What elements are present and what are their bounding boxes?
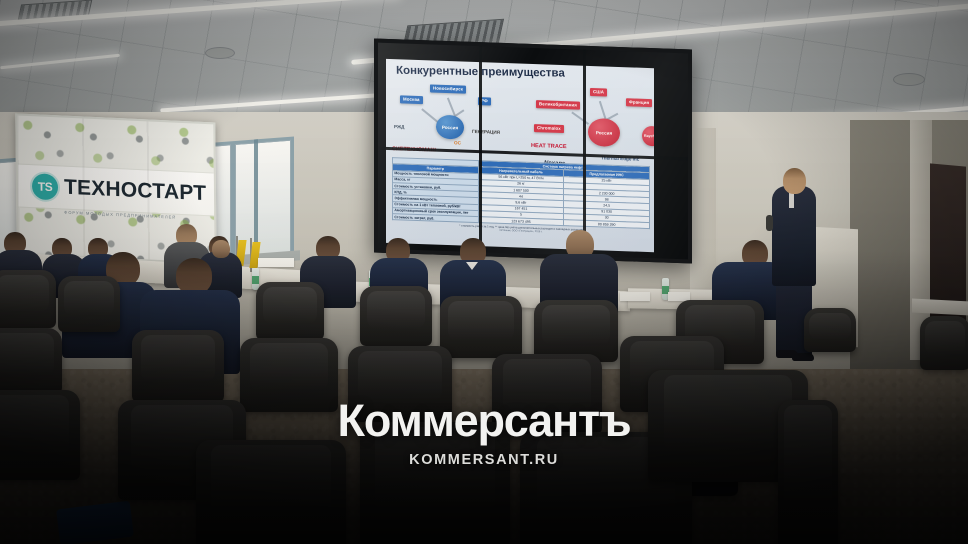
conference-chair [132, 330, 224, 402]
side-desk [912, 298, 968, 315]
conference-chair [360, 422, 510, 544]
ceiling-speaker-icon [893, 73, 925, 86]
screenshot-root: TS ТЕХНОСТАРТ ФОРУМ МОЛОДЫХ ПРЕДПРИНИМАТ… [0, 0, 968, 544]
diagram-logo: ГЕНЕРАЦИЯ [472, 130, 500, 136]
conference-chair [240, 338, 338, 412]
presenter-tie [789, 192, 794, 208]
diagram-node: Великобритания [536, 100, 580, 110]
ceiling-speaker-icon [205, 47, 235, 59]
conference-chair [492, 354, 602, 434]
conference-chair [58, 276, 120, 332]
conference-chair [0, 328, 62, 394]
slide-comparison-table: Система нагрева нефти Параметр Нагревате… [392, 157, 650, 248]
conference-chair [534, 300, 618, 362]
diagram-arrow [572, 112, 589, 125]
diagram-arrow [422, 108, 439, 122]
presenter-shoe [792, 353, 814, 361]
diagram-logo: ОС [454, 141, 461, 146]
diagram-node: США [590, 88, 607, 97]
diagram-node: Новосибирск [430, 84, 466, 94]
notepad [620, 292, 650, 301]
diagram-hub: Россия [588, 118, 620, 147]
diagram-hub: Россия [436, 115, 464, 140]
conference-chair [256, 282, 324, 340]
microphone-icon [766, 215, 773, 231]
diagram-node: Франция [626, 98, 652, 107]
conference-room: TS ТЕХНОСТАРТ ФОРУМ МОЛОДЫХ ПРЕДПРИНИМАТ… [0, 0, 968, 544]
diagram-logo: HEAT TRACE [531, 144, 567, 151]
conference-chair [348, 346, 452, 422]
conference-chair [360, 286, 432, 346]
conference-chair [804, 308, 856, 352]
conference-chair [778, 400, 838, 544]
person-head [212, 240, 230, 258]
person-head [176, 258, 212, 294]
conference-chair [196, 440, 346, 544]
conference-chair [440, 296, 522, 358]
video-wall-display: Конкурентные преимущества Москва Новосиб… [374, 38, 692, 263]
diagram-logo: РЖД [394, 125, 404, 130]
comparison-table: Система нагрева нефти Параметр Нагревате… [392, 157, 650, 229]
diagram-node: Москва [400, 95, 423, 104]
name-placard [258, 258, 294, 267]
shirt-collar [466, 262, 478, 270]
presenter-torso [772, 186, 816, 286]
diagram-logo: Chromalox [534, 124, 564, 133]
presenter-head [783, 168, 806, 194]
blue-folder [56, 501, 134, 544]
office-chair [920, 316, 968, 370]
diagram-logo: Raychem [642, 126, 654, 147]
conference-chair [0, 270, 56, 328]
conference-chair [0, 390, 80, 480]
